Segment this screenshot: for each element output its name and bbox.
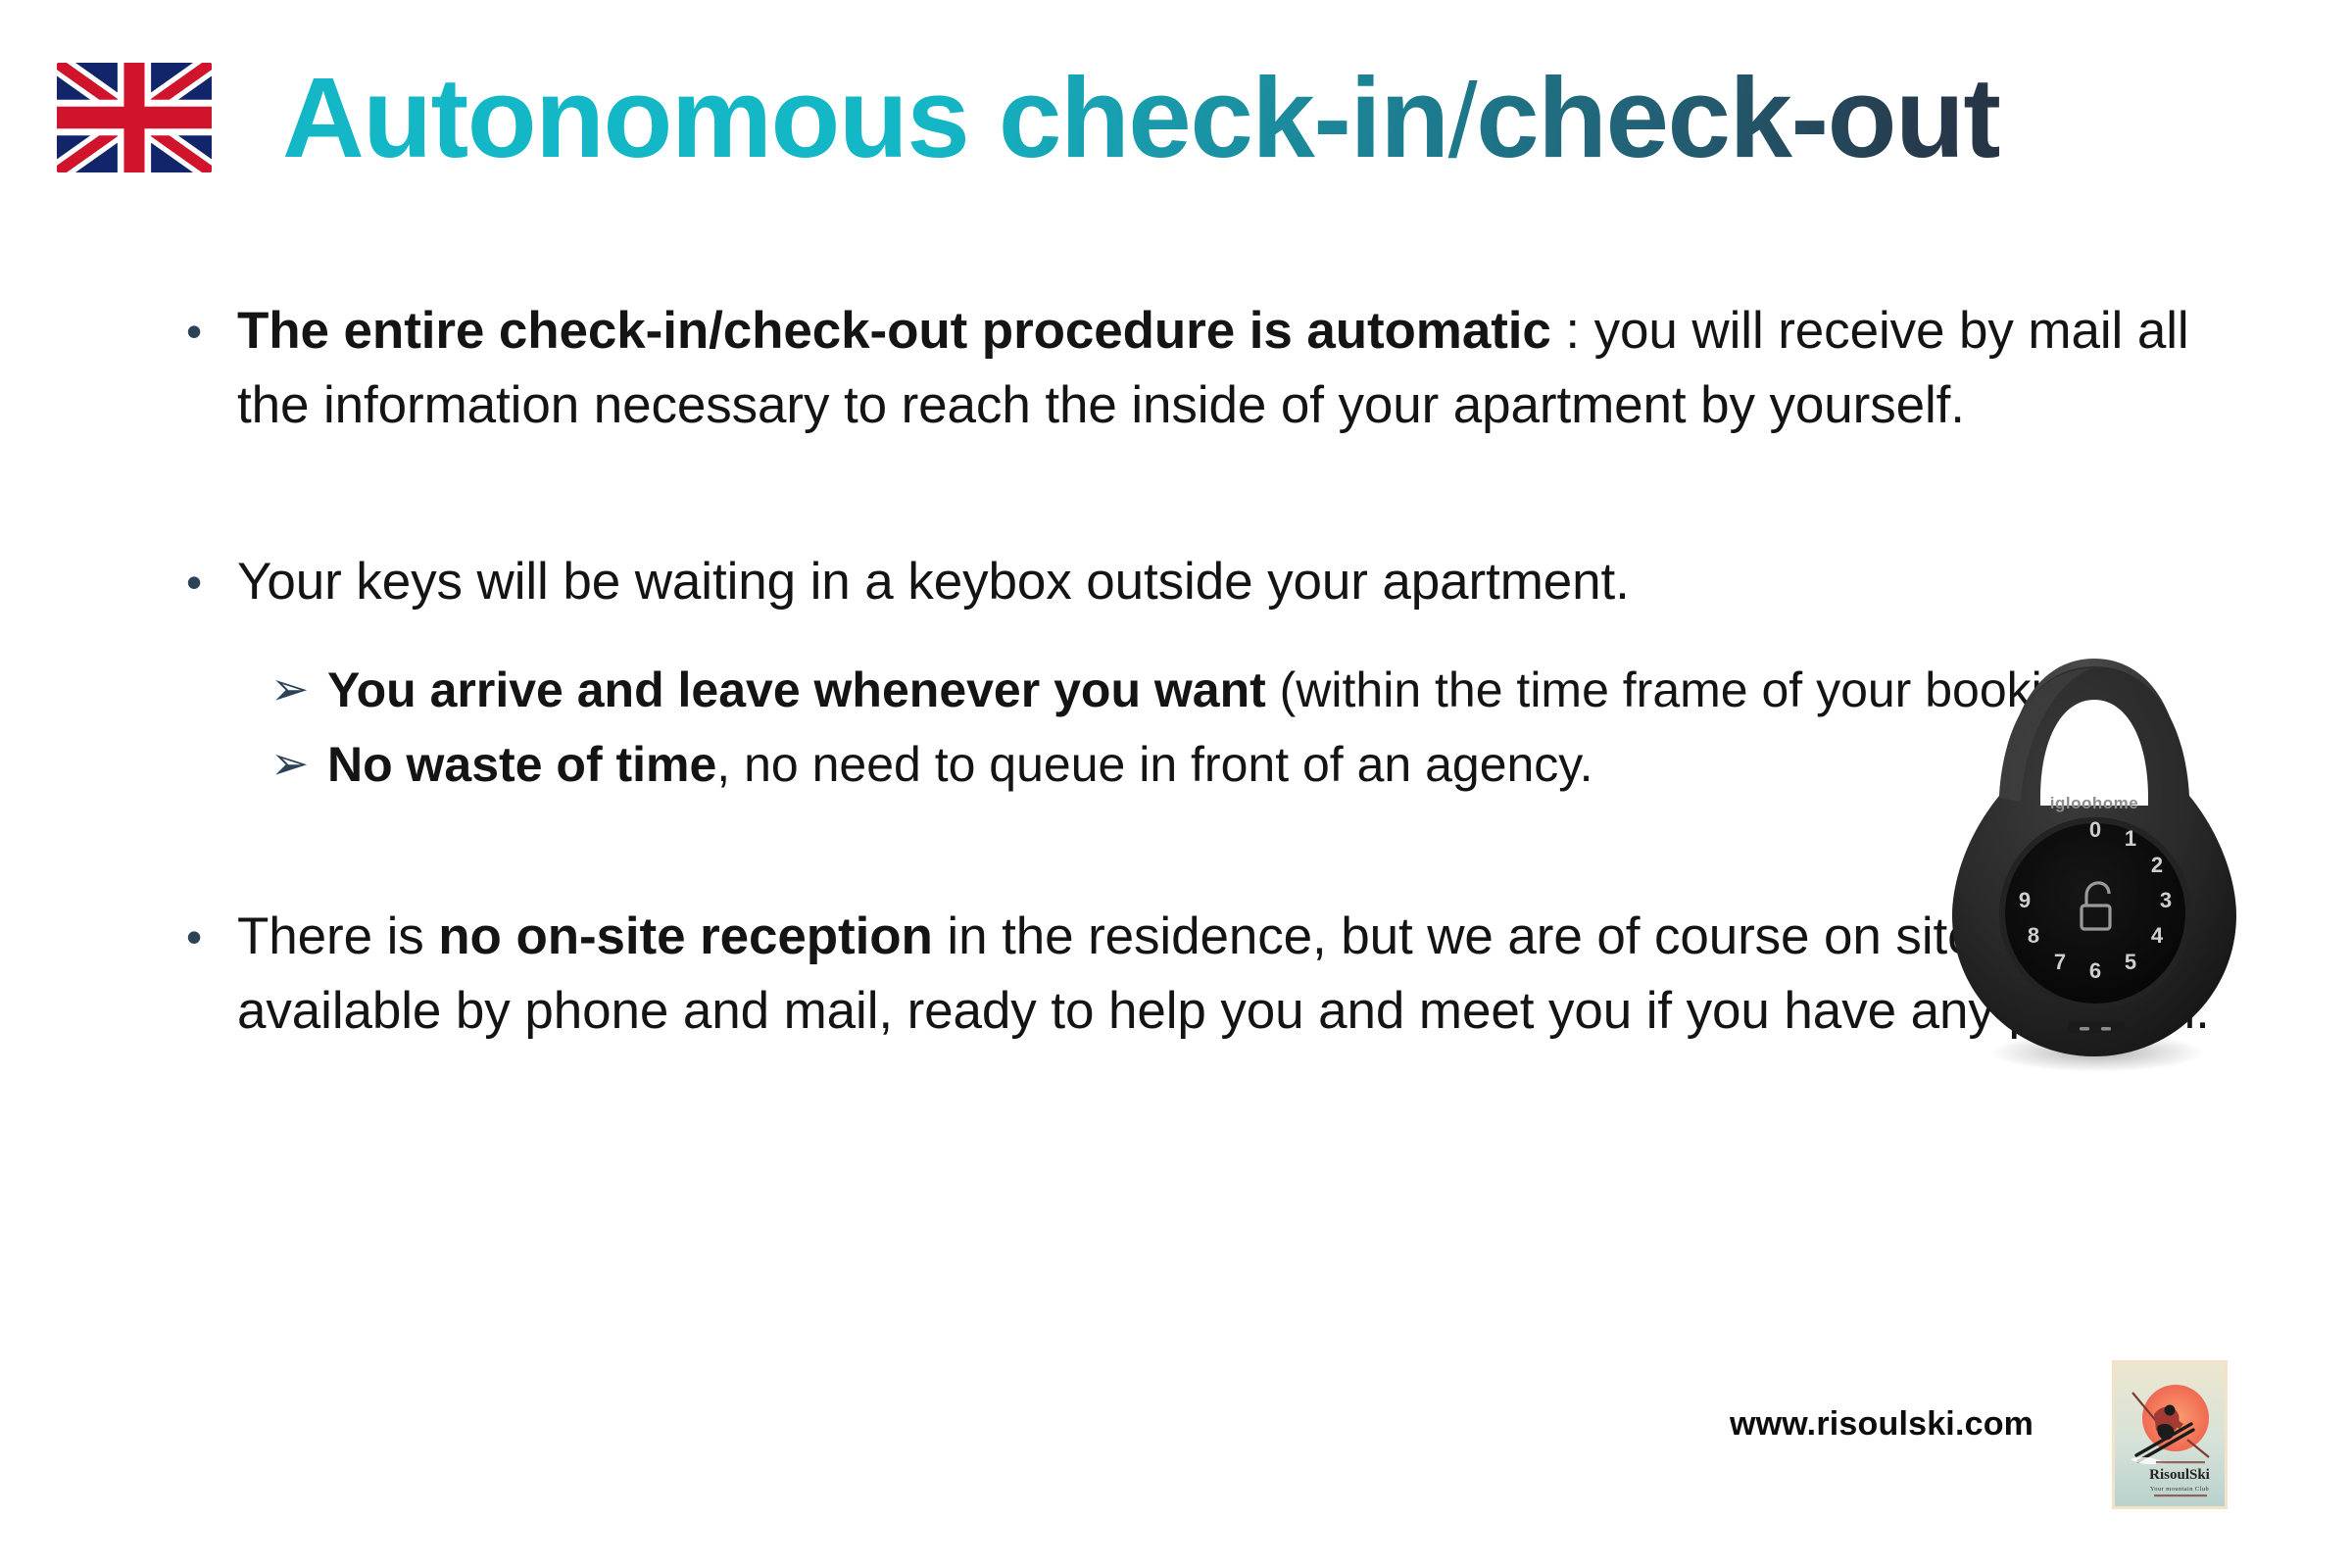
svg-text:0: 0: [2089, 817, 2101, 842]
logo-brand-text: RisoulSki: [2149, 1467, 2210, 1483]
page-title-slash: /: [1448, 61, 1477, 179]
arrow-right-icon: ➢: [270, 727, 309, 802]
page-title-part2: check-out: [1476, 54, 1999, 181]
sub-bullet-text: , no need to queue in front of an agency…: [716, 737, 1592, 792]
arrow-right-icon: ➢: [270, 653, 309, 727]
bullet-text: There is: [237, 907, 438, 965]
svg-text:6: 6: [2089, 958, 2101, 983]
bullet-item: • Your keys will be waiting in a keybox …: [0, 545, 2352, 619]
svg-text:3: 3: [2160, 888, 2172, 912]
spacer: [0, 443, 2352, 545]
bullet-marker-icon: •: [186, 294, 225, 368]
spacer: [0, 619, 2352, 653]
bullet-text-bold: no on-site reception: [438, 907, 932, 965]
footer-website-url[interactable]: www.risoulski.com: [1730, 1405, 2033, 1444]
svg-text:igloohome: igloohome: [2050, 794, 2138, 812]
bullet-item: • The entire check-in/check-out procedur…: [0, 294, 2352, 443]
svg-text:5: 5: [2125, 950, 2136, 974]
slide-canvas: Autonomous check-in/check-out • The enti…: [0, 0, 2352, 1568]
svg-text:4: 4: [2151, 923, 2164, 948]
logo-subtitle-text: Your mountain Club: [2150, 1486, 2209, 1493]
bullet-marker-icon: •: [186, 545, 225, 619]
page-title: Autonomous check-in/check-out: [282, 47, 1999, 189]
bullet-marker-icon: •: [186, 900, 225, 974]
uk-flag-icon: [57, 63, 212, 172]
sub-bullet-text-bold: You arrive and leave whenever you want: [327, 662, 1266, 717]
svg-text:1: 1: [2125, 826, 2136, 851]
slide-header: Autonomous check-in/check-out: [0, 27, 2352, 174]
risoulski-logo[interactable]: RisoulSki Your mountain Club: [2112, 1360, 2228, 1509]
keybox-padlock-image: igloohome 0 1 2 3 4 5 6 7 8 9: [1923, 649, 2266, 1080]
svg-text:2: 2: [2151, 853, 2163, 877]
svg-text:7: 7: [2054, 950, 2066, 974]
bullet-text-bold: The entire check-in/check-out procedure …: [237, 302, 1551, 360]
bullet-text: Your keys will be waiting in a keybox ou…: [237, 553, 1630, 611]
sub-bullet-text-bold: No waste of time: [327, 737, 716, 792]
svg-text:9: 9: [2019, 888, 2031, 912]
svg-text:8: 8: [2028, 923, 2039, 948]
page-title-part1: Autonomous check-in: [282, 54, 1448, 181]
